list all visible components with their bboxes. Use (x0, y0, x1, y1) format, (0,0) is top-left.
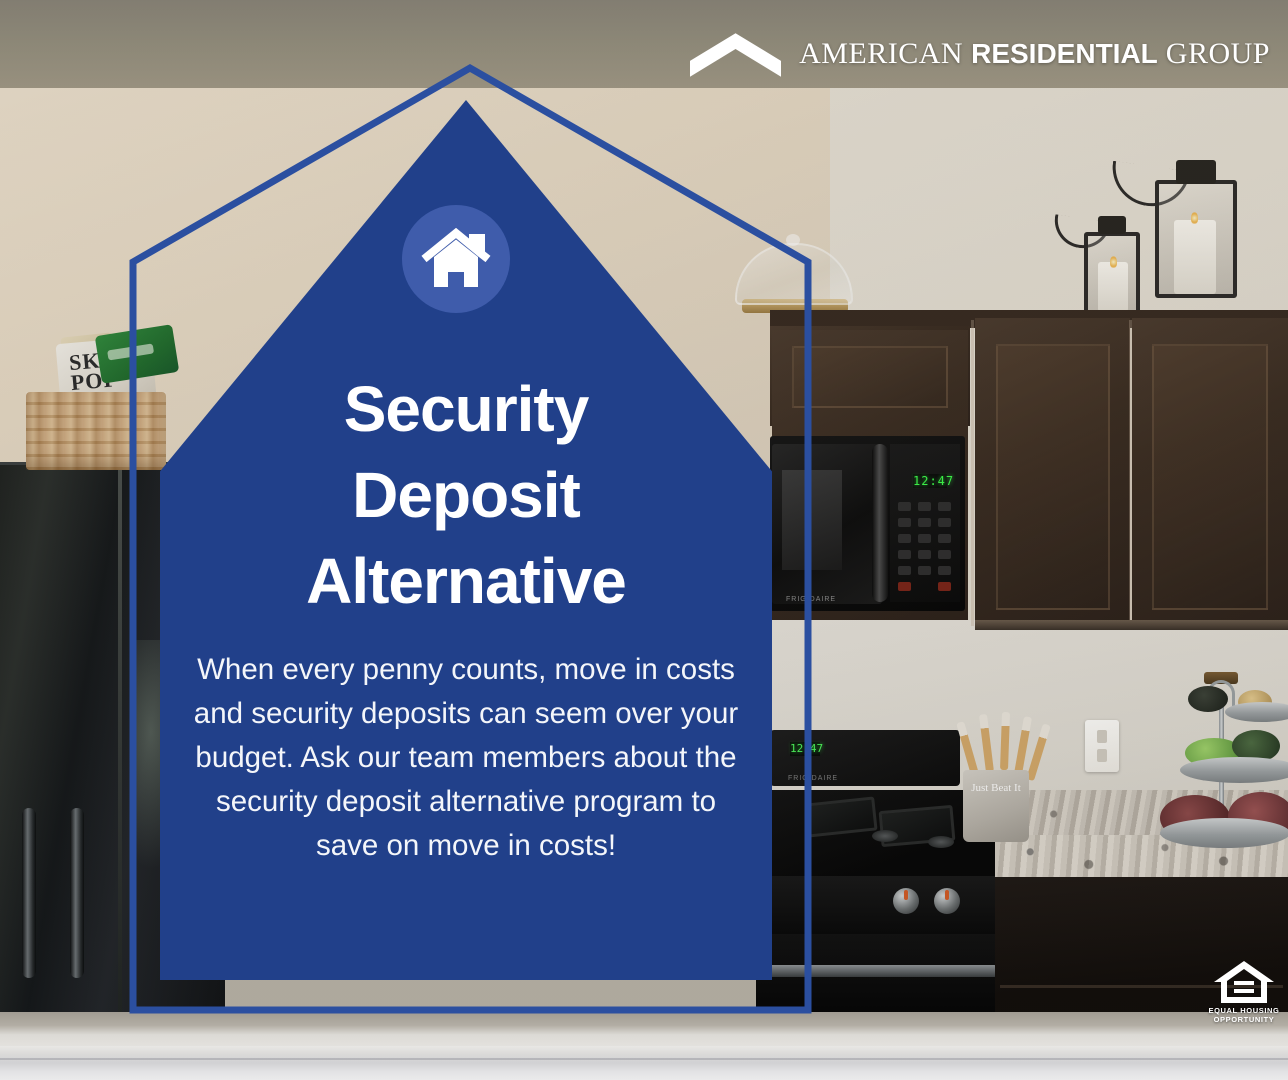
brand-name-part3: GROUP (1158, 37, 1270, 70)
equal-housing-opportunity-logo: EQUAL HOUSING OPPORTUNITY (1208, 960, 1280, 1036)
house-icon (421, 228, 491, 290)
brand-name-part2: RESIDENTIAL (971, 38, 1158, 69)
marketing-flyer: SKINNY POP (0, 0, 1288, 1080)
brand-name-part1: AMERICAN (799, 37, 971, 70)
headline-line-2: Deposit (200, 452, 732, 538)
headline-line-3: Alternative (200, 538, 732, 624)
headline-line-1: Security (200, 366, 732, 452)
equal-housing-line-2: OPPORTUNITY (1208, 1015, 1279, 1024)
body-copy: When every penny counts, move in costs a… (188, 648, 744, 868)
brand-logo: AMERICAN RESIDENTIAL GROUP (690, 26, 1270, 82)
equal-housing-house-icon (1213, 960, 1275, 1004)
chevron-roof-icon (690, 31, 781, 77)
house-icon-badge (402, 205, 510, 313)
equal-housing-line-1: EQUAL HOUSING (1208, 1006, 1279, 1015)
headline: Security Deposit Alternative (200, 366, 732, 624)
brand-name: AMERICAN RESIDENTIAL GROUP (799, 37, 1270, 71)
equal-housing-caption: EQUAL HOUSING OPPORTUNITY (1208, 1006, 1279, 1024)
blue-house-panel-content: Security Deposit Alternative When every … (160, 100, 772, 980)
